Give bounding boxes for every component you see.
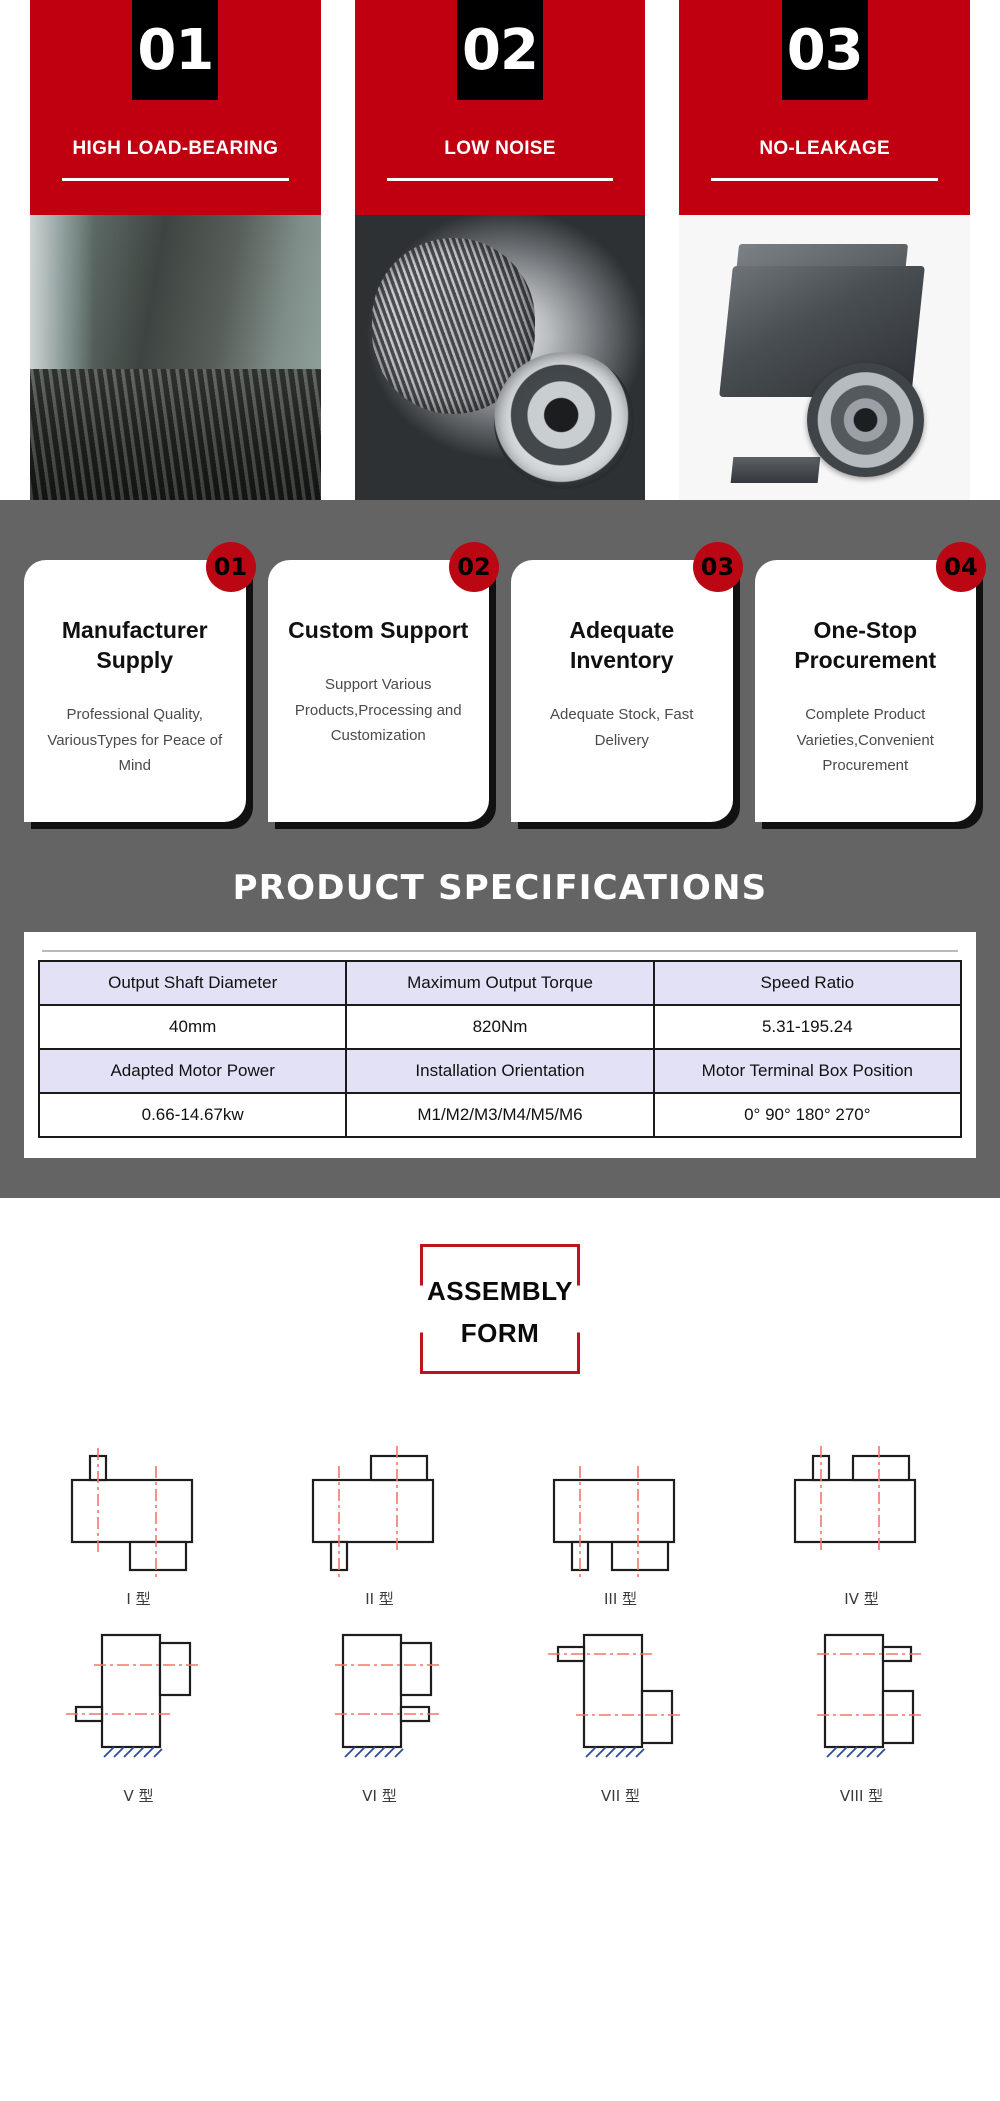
table-header-cell: Adapted Motor Power xyxy=(39,1049,346,1093)
table-header-cell: Maximum Output Torque xyxy=(346,961,653,1005)
gearbox-unit-photo xyxy=(679,215,970,500)
advantage-card: 04 One-Stop Procurement Complete Product… xyxy=(755,560,977,822)
feature-banner: 03 NO-LEAKAGE xyxy=(679,0,970,500)
feature-banner-number: 02 xyxy=(457,0,543,100)
feature-banner-number: 01 xyxy=(132,0,218,100)
feature-banner-title: NO-LEAKAGE xyxy=(759,138,890,160)
advantage-card-title: Adequate Inventory xyxy=(525,616,719,676)
specifications-table-wrap: Output Shaft Diameter Maximum Output Tor… xyxy=(24,932,976,1158)
feature-banner-title: LOW NOISE xyxy=(444,138,555,160)
assembly-diagram-label: I 型 xyxy=(126,1588,150,1609)
assembly-diagram-v1-icon xyxy=(44,1619,234,1779)
assembly-diagram-cell: I 型 xyxy=(18,1432,259,1609)
assembly-diagram-cell: V 型 xyxy=(18,1619,259,1806)
gear-shafts-photo xyxy=(30,215,321,500)
advantage-card: 01 Manufacturer Supply Professional Qual… xyxy=(24,560,246,822)
table-row: Adapted Motor Power Installation Orienta… xyxy=(39,1049,961,1093)
assembly-diagram-label: VIII 型 xyxy=(840,1785,883,1806)
assembly-form-heading: ASSEMBLY FORM xyxy=(420,1244,580,1380)
feature-banner-number: 03 xyxy=(782,0,868,100)
feature-banner-rule xyxy=(711,178,938,181)
feature-banner: 02 LOW NOISE xyxy=(355,0,646,500)
advantage-card-badge: 04 xyxy=(936,542,986,592)
table-header-cell: Speed Ratio xyxy=(654,961,961,1005)
table-row: 40mm 820Nm 5.31-195.24 xyxy=(39,1005,961,1049)
advantage-cards-row: 01 Manufacturer Supply Professional Qual… xyxy=(24,560,976,822)
assembly-heading-line1: ASSEMBLY xyxy=(420,1270,580,1312)
advantage-card-title: Custom Support xyxy=(282,616,476,646)
assembly-form-section: ASSEMBLY FORM I 型 II 型 xyxy=(0,1198,1000,1846)
feature-banner-rule xyxy=(62,178,289,181)
assembly-diagram-cell: III 型 xyxy=(500,1432,741,1609)
assembly-diagram-h3-icon xyxy=(526,1432,716,1582)
assembly-diagram-cell: VI 型 xyxy=(259,1619,500,1806)
table-cell: 0° 90° 180° 270° xyxy=(654,1093,961,1137)
table-row: 0.66-14.67kw M1/M2/M3/M4/M5/M6 0° 90° 18… xyxy=(39,1093,961,1137)
table-header-cell: Installation Orientation xyxy=(346,1049,653,1093)
advantage-card-title: One-Stop Procurement xyxy=(769,616,963,676)
specifications-divider xyxy=(42,950,958,952)
feature-banner-title: HIGH LOAD-BEARING xyxy=(73,138,279,160)
advantage-card-badge: 02 xyxy=(449,542,499,592)
advantage-card-badge: 01 xyxy=(206,542,256,592)
advantage-card-desc: Support Various Products,Processing and … xyxy=(282,672,476,749)
assembly-diagram-label: III 型 xyxy=(604,1588,637,1609)
bearings-photo xyxy=(355,215,646,500)
assembly-diagram-cell: II 型 xyxy=(259,1432,500,1609)
table-header-cell: Output Shaft Diameter xyxy=(39,961,346,1005)
advantage-card-desc: Complete Product Varieties,Convenient Pr… xyxy=(769,702,963,779)
table-cell: M1/M2/M3/M4/M5/M6 xyxy=(346,1093,653,1137)
assembly-diagram-cell: VII 型 xyxy=(500,1619,741,1806)
assembly-diagram-label: II 型 xyxy=(365,1588,394,1609)
assembly-diagram-v4-icon xyxy=(767,1619,957,1779)
assembly-heading-line2: FORM xyxy=(420,1312,580,1354)
assembly-diagram-label: V 型 xyxy=(123,1785,153,1806)
feature-banner: 01 HIGH LOAD-BEARING xyxy=(30,0,321,500)
feature-banner-head: 02 LOW NOISE xyxy=(355,0,646,215)
assembly-diagram-h1-icon xyxy=(44,1432,234,1582)
advantage-card: 02 Custom Support Support Various Produc… xyxy=(268,560,490,822)
specifications-title: PRODUCT SPECIFICATIONS xyxy=(24,868,976,908)
table-cell: 40mm xyxy=(39,1005,346,1049)
assembly-diagram-v3-icon xyxy=(526,1619,716,1779)
advantage-card-badge: 03 xyxy=(693,542,743,592)
advantages-and-specs-band: 01 Manufacturer Supply Professional Qual… xyxy=(0,500,1000,1198)
table-cell: 0.66-14.67kw xyxy=(39,1093,346,1137)
advantage-card: 03 Adequate Inventory Adequate Stock, Fa… xyxy=(511,560,733,822)
assembly-diagram-v2-icon xyxy=(285,1619,475,1779)
feature-banner-head: 03 NO-LEAKAGE xyxy=(679,0,970,215)
assembly-diagram-label: IV 型 xyxy=(844,1588,878,1609)
assembly-diagram-grid: I 型 II 型 III 型 xyxy=(0,1432,1000,1806)
table-header-cell: Motor Terminal Box Position xyxy=(654,1049,961,1093)
advantage-card-desc: Professional Quality, VariousTypes for P… xyxy=(38,702,232,779)
assembly-diagram-cell: IV 型 xyxy=(741,1432,982,1609)
advantage-card-title: Manufacturer Supply xyxy=(38,616,232,676)
feature-banners-section: 01 HIGH LOAD-BEARING 02 LOW NOISE 03 NO-… xyxy=(0,0,1000,500)
table-row: Output Shaft Diameter Maximum Output Tor… xyxy=(39,961,961,1005)
assembly-diagram-cell: VIII 型 xyxy=(741,1619,982,1806)
specifications-table: Output Shaft Diameter Maximum Output Tor… xyxy=(38,960,962,1138)
assembly-diagram-h4-icon xyxy=(767,1432,957,1582)
assembly-diagram-label: VI 型 xyxy=(362,1785,396,1806)
feature-banner-rule xyxy=(387,178,614,181)
assembly-diagram-label: VII 型 xyxy=(601,1785,640,1806)
table-cell: 5.31-195.24 xyxy=(654,1005,961,1049)
table-cell: 820Nm xyxy=(346,1005,653,1049)
advantage-card-desc: Adequate Stock, Fast Delivery xyxy=(525,702,719,754)
feature-banner-head: 01 HIGH LOAD-BEARING xyxy=(30,0,321,215)
assembly-diagram-h2-icon xyxy=(285,1432,475,1582)
